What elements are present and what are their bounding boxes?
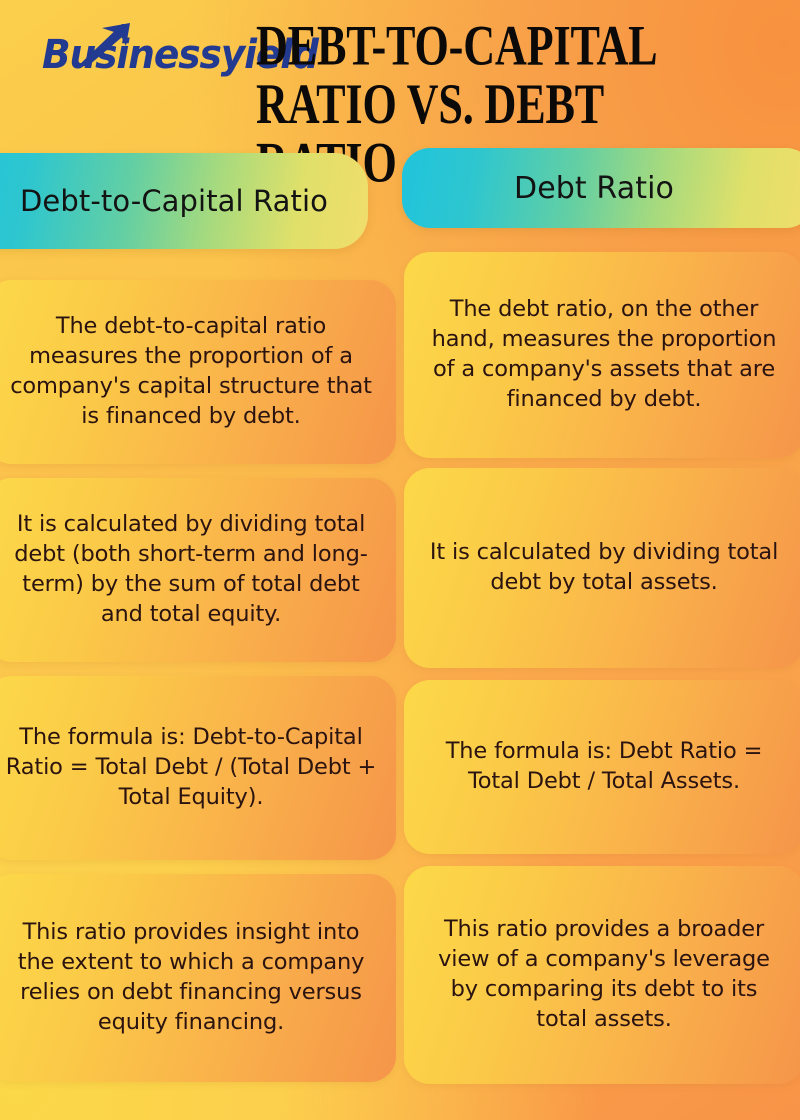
card-left-3: The formula is: Debt-to-Capital Ratio = … (0, 676, 396, 860)
card-right-2: It is calculated by dividing total debt … (404, 468, 800, 668)
card-right-4-text: This ratio provides a broader view of a … (422, 915, 786, 1035)
card-right-3-text: The formula is: Debt Ratio = Total Debt … (422, 737, 786, 797)
card-right-3: The formula is: Debt Ratio = Total Debt … (404, 680, 800, 854)
card-right-2-text: It is calculated by dividing total debt … (422, 538, 786, 598)
brand-logo: Businessyield (20, 24, 248, 86)
column-heading-pill-left: Debt-to-Capital Ratio (0, 153, 368, 249)
card-right-4: This ratio provides a broader view of a … (404, 866, 800, 1084)
card-left-2: It is calculated by dividing total debt … (0, 478, 396, 662)
card-left-1-text: The debt-to-capital ratio measures the p… (4, 312, 378, 432)
card-left-3-text: The formula is: Debt-to-Capital Ratio = … (4, 723, 378, 813)
card-left-4: This ratio provides insight into the ext… (0, 874, 396, 1082)
column-heading-label-left: Debt-to-Capital Ratio (20, 184, 328, 218)
card-right-1-text: The debt ratio, on the other hand, measu… (422, 295, 786, 415)
card-left-2-text: It is calculated by dividing total debt … (4, 510, 378, 630)
infographic-header: Businessyield Debt-to-Capital Ratio vs. … (0, 0, 800, 150)
column-heading-label-right: Debt Ratio (514, 171, 674, 206)
card-left-1: The debt-to-capital ratio measures the p… (0, 280, 396, 464)
card-left-4-text: This ratio provides insight into the ext… (4, 918, 378, 1038)
column-heading-pill-right: Debt Ratio (402, 148, 800, 228)
card-right-1: The debt ratio, on the other hand, measu… (404, 252, 800, 458)
